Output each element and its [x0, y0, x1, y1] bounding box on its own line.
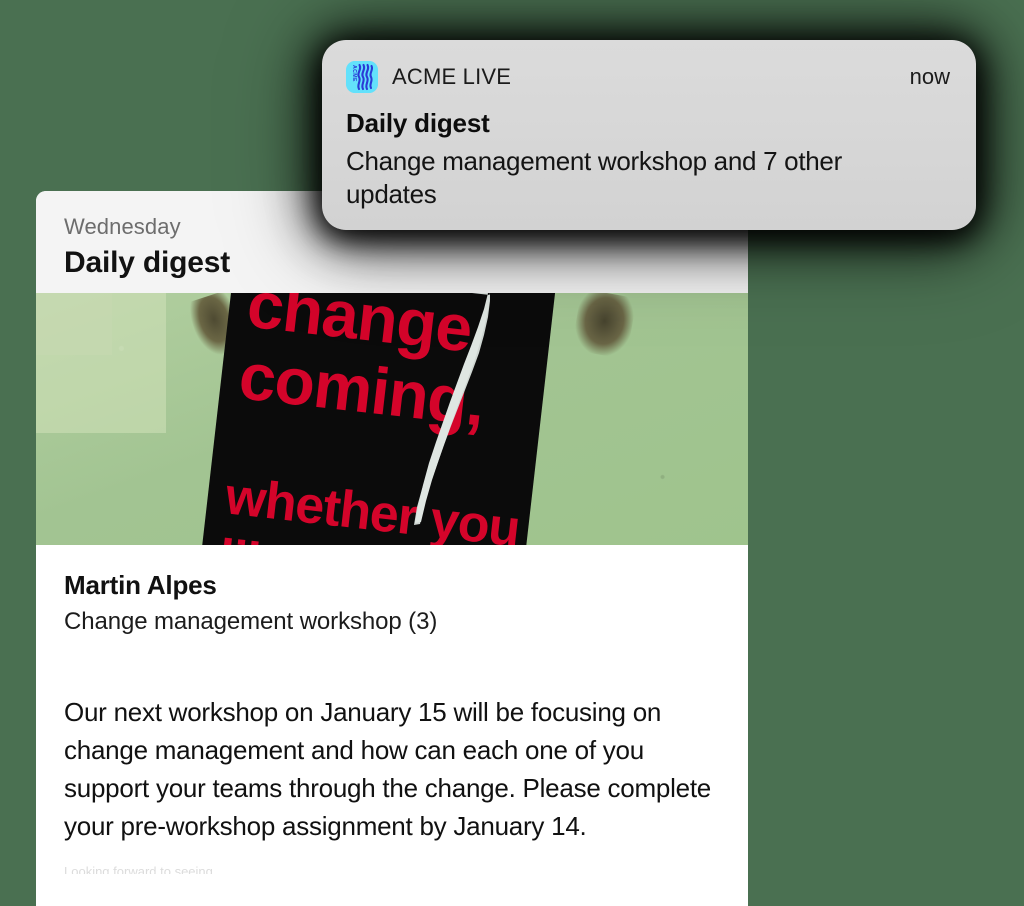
change-poster-photo: change coming, whether you like it or no… — [36, 293, 748, 545]
photo-paper-patch-small — [36, 293, 112, 355]
digest-item-body: Martin Alpes Change management workshop … — [36, 545, 748, 874]
notification-timestamp: now — [910, 66, 950, 88]
digest-subject-line: Change management workshop (3) — [64, 606, 720, 638]
push-notification-header: ACME ACME LIVE now — [346, 60, 950, 94]
acme-live-app-icon: ACME — [346, 61, 378, 93]
acme-logo-mark: ACME — [346, 61, 378, 93]
push-notification-shadow: ACME ACME LIVE now Daily digest Change m… — [322, 40, 976, 230]
push-notification-toast[interactable]: ACME ACME LIVE now Daily digest Change m… — [322, 40, 976, 230]
photo-grime-blob-right — [571, 293, 637, 359]
screen-canvas: Wednesday Daily digest change coming, wh… — [0, 0, 1024, 906]
svg-text:ACME: ACME — [351, 65, 357, 82]
daily-digest-card[interactable]: Wednesday Daily digest change coming, wh… — [36, 191, 748, 906]
poster-black-panel: change coming, whether you like it or no… — [195, 293, 564, 545]
digest-page-title: Daily digest — [64, 243, 720, 282]
digest-message-text: Our next workshop on January 15 will be … — [64, 694, 720, 846]
digest-sender-name: Martin Alpes — [64, 569, 720, 603]
digest-message-truncated-tail: Looking forward to seeing — [64, 864, 720, 874]
notification-title: Daily digest — [346, 108, 950, 139]
notification-message: Change management workshop and 7 other u… — [346, 145, 926, 212]
notification-app-name: ACME LIVE — [392, 66, 511, 88]
